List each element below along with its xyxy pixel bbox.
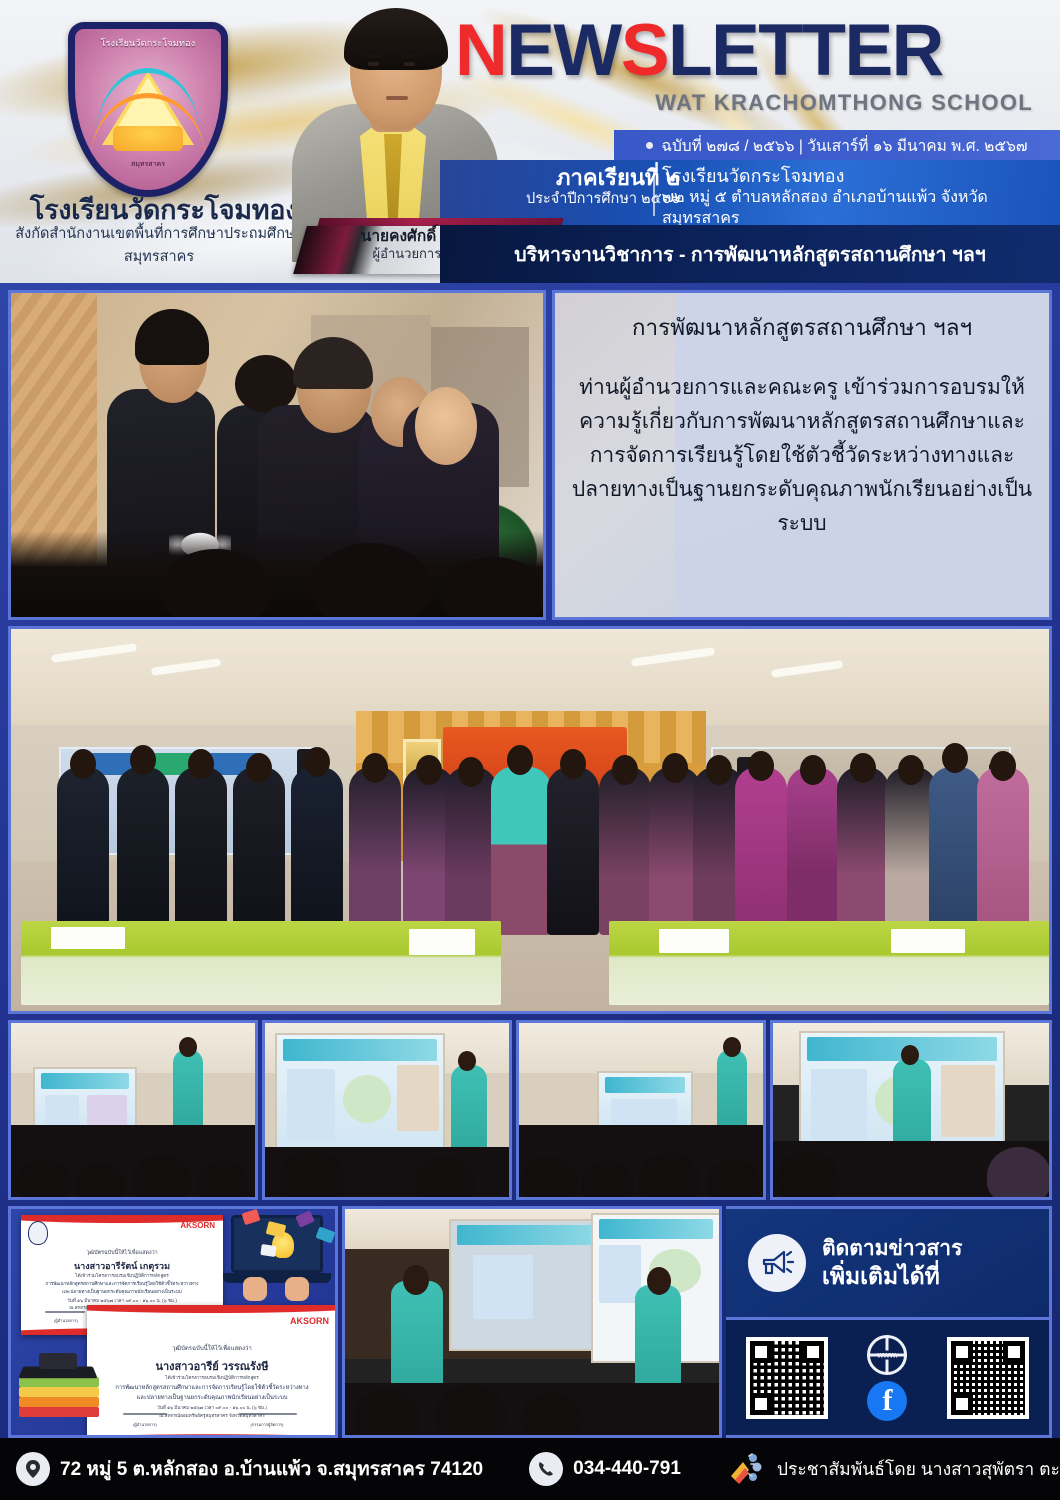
photo2-person-09-speaker [491,767,551,935]
crest-base-shape [113,126,183,152]
certificate-2-title: วุฒิบัตรฉบับนี้ให้ไว้เพื่อแสดงว่า [87,1345,337,1354]
row4-screen-left [449,1219,605,1351]
certificate-2: AKSORN วุฒิบัตรฉบับนี้ให้ไว้เพื่อแสดงว่า… [87,1305,337,1438]
term-address-bar: ภาคเรียนที่ ๒ ประจำปีการศึกษา ๒๕๖๖ โรงเร… [440,160,1060,225]
photo-row3-4 [770,1020,1052,1200]
row3-4-presenter-head [901,1045,919,1065]
social-icons-group: www. f [867,1335,907,1421]
photo2-head-13 [706,755,732,785]
row3-4-audience-head-2 [987,1147,1051,1200]
row3-1-audience-head-3 [133,1155,191,1200]
photo2-paper-3 [659,929,729,953]
photo2-person-06 [349,767,401,935]
row3-2-projection-screen [275,1033,445,1163]
phone-icon [529,1452,563,1486]
bullet-dot-icon [646,142,653,149]
photo2-person-01 [57,767,109,935]
photo2-person-10-director [547,767,599,935]
row3-1-audience-head-4 [197,1161,249,1200]
photo2-person-05 [291,767,343,935]
certificate-2-date: วันที่ ๑๖ มีนาคม ๒๕๖๗ เวลา ๐๙.๐๐ - ๑๖.๐๐… [87,1405,337,1412]
photo2-head-10 [560,749,586,779]
row4-presenter-right [635,1285,681,1393]
row3-3-audience-head-1 [521,1157,577,1200]
certificates-collage: AKSORN วุฒิบัตรฉบับนี้ให้ไว้เพื่อแสดงว่า… [8,1206,338,1438]
footer-pr-item: ประชาสัมพันธ์โดย นางสาวสุพัตรา ตะเพียนทอ… [727,1452,1060,1486]
footer-address-item: 72 หมู่ 5 ต.หลักสอง อ.บ้านแพ้ว จ.สมุทรสา… [16,1452,483,1486]
photo2-person-15 [787,767,839,935]
qr-facebook-pattern [951,1341,1025,1415]
row4-slide-left-header [457,1225,597,1245]
certificate-1-date: วันที่ ๑๖ มีนาคม ๒๕๖๗ เวลา ๐๙.๐๐ - ๑๖.๐๐… [21,1298,223,1305]
photo-microphone-scene [8,290,546,620]
qr-eye-tl [750,1341,772,1363]
certificate-2-brand-logo: AKSORN [290,1317,329,1326]
photo2-head-02 [130,745,156,775]
photo2-head-18 [942,743,968,773]
certificate-1-course-line1: การพัฒนาหลักสูตรสถานศึกษาและการจัดการเรี… [21,1281,223,1288]
laptop-hand-right [285,1277,309,1301]
page-footer: 72 หมู่ 5 ต.หลักสอง อ.บ้านแพ้ว จ.สมุทรสา… [0,1438,1060,1500]
location-pin-icon [16,1452,50,1486]
qr-code-bar: www. f [726,1320,1052,1438]
certificate-1-signature-line-left [45,1311,85,1313]
article-heading: การพัฒนาหลักสูตรสถานศึกษา ฯลฯ [555,309,1049,345]
megaphone-announce-icon [727,1452,767,1486]
portrait-brow-right [401,54,418,58]
photo-row3-3 [516,1020,766,1200]
row3-4-slide-text-right [941,1065,995,1137]
row3-4-slide-text-left [811,1069,867,1139]
row3-3-audience-head-4 [707,1159,761,1200]
term-block: ภาคเรียนที่ ๒ ประจำปีการศึกษา ๒๕๖๖ [480,165,680,208]
photo2-head-11 [612,755,638,785]
row3-3-presenter-head [723,1037,741,1057]
row3-1-slide-header [41,1073,129,1089]
certificate-2-signature-line-right [239,1413,297,1415]
certificate-1-brand-logo: AKSORN [180,1222,215,1230]
row3-2-audience-head-2 [415,1157,475,1200]
row4-presenter-right-head [647,1267,671,1295]
row3-2-slide-text-right [397,1065,439,1131]
row3-4-audience-head-1 [777,1151,839,1200]
photo2-head-08 [458,757,484,787]
photo-group-stage [8,626,1052,1014]
term-year: ประจำปีการศึกษา ๒๕๖๖ [480,191,680,208]
photo2-head-17 [898,755,924,785]
crest-bottom-text: สมุทรสาคร [75,159,221,170]
laptop-base [223,1273,331,1283]
qr-fb-eye-bl [951,1393,973,1415]
photo2-person-04 [233,767,285,935]
term-label: ภาคเรียนที่ ๒ [480,165,680,191]
school-crest-logo: โรงเรียนวัดกระโจมทอง สมุทรสาคร [68,22,228,197]
certificate-2-course-line2: และปลายทางเป็นฐานยกระดับคุณภาพนักเรียนอย… [87,1394,337,1403]
portrait-eye-left [368,62,379,66]
follow-us-text: ติดตามข่าวสาร เพิ่มเติมได้ที่ [822,1236,962,1291]
photo2-paper-1 [51,927,125,949]
row3-3-audience-head-2 [581,1161,633,1200]
article-body: ท่านผู้อำนวยการและคณะครู เข้าร่วมการอบรม… [569,371,1035,541]
crest-top-text: โรงเรียนวัดกระโจมทอง [75,36,221,50]
wordmark-letters-ew: EW [506,10,621,91]
photo1-audience-head-1 [161,549,271,620]
book-yellow [19,1387,99,1397]
topic-bar: บริหารงานวิชาการ - การพัฒนาหลักสูตรสถานศ… [440,225,1060,283]
page-header: โรงเรียนวัดกระโจมทอง สมุทรสาคร โรงเรียนว… [0,0,1060,283]
footer-address-text: 72 หมู่ 5 ต.หลักสอง อ.บ้านแพ้ว จ.สมุทรสา… [60,1454,483,1484]
address-line-1: โรงเรียนวัดกระโจมทอง [662,165,1060,188]
photo2-head-15 [800,755,826,785]
photo2-head-19 [990,751,1016,781]
graduation-cap-illustration [17,1341,101,1413]
photo2-head-01 [70,749,96,779]
certificate-1-subtitle: ได้เข้าร่วมโครงการอบรมเชิงปฏิบัติการหลัก… [21,1273,223,1280]
footer-phone-text: 034-440-791 [573,1458,681,1480]
portrait-eye-right [404,62,415,66]
photo2-person-14 [735,767,787,935]
row3-3-slide-block [611,1099,677,1127]
wordmark-letter-s: S [621,10,668,91]
photo2-head-06 [362,753,388,783]
school-affiliation: สังกัดสำนักงานเขตพื้นที่การศึกษาประถมศึก… [6,222,312,268]
facebook-icon[interactable]: f [867,1381,907,1421]
photo2-head-14 [748,751,774,781]
issue-bar: ฉบับที่ ๒๗๘ / ๒๕๖๖ | วันเสาร์ที่ ๑๖ มีนา… [614,130,1060,160]
book-orange [19,1397,99,1407]
certificate-2-signer-right: (กรรมการผู้จัดการ) [217,1421,317,1428]
row3-2-slide-text-left [287,1069,335,1141]
newsletter-wordmark: NEWSLETTER [455,10,1045,92]
photo2-head-09 [507,745,533,775]
photo2-person-19 [977,767,1029,935]
megaphone-icon [748,1234,806,1292]
qr-code-website[interactable] [746,1337,828,1419]
wordmark-letter-n: N [455,10,506,91]
row4-audience-head-3 [521,1393,583,1438]
portrait-mouth [386,96,408,100]
newsletter-page: โรงเรียนวัดกระโจมทอง สมุทรสาคร โรงเรียนว… [0,0,1060,1500]
book-green [19,1377,99,1387]
footer-phone-item: 034-440-791 [529,1452,681,1486]
photo2-head-16 [850,753,876,783]
issue-text: ฉบับที่ ๒๗๘ / ๒๕๖๖ | วันเสาร์ที่ ๑๖ มีนา… [661,133,1027,158]
photo2-head-12 [662,753,688,783]
row3-3-slide-header [605,1077,685,1093]
certificate-1-title: วุฒิบัตรฉบับนี้ให้ไว้เพื่อแสดงว่า [21,1249,223,1257]
row4-audience-head-2 [435,1385,507,1438]
certificate-1-seal-icon [28,1221,48,1245]
qr-fb-eye-tr [1003,1341,1025,1363]
photo2-paper-2 [409,929,475,955]
certificate-2-course-line1: การพัฒนาหลักสูตรสถานศึกษาและการจัดการเรี… [87,1384,337,1393]
row4-slide-right-header [599,1219,713,1239]
photo2-person-08 [445,767,497,935]
globe-www-icon[interactable]: www. [867,1335,907,1375]
photo2-person-18 [929,767,981,935]
certificate-2-subtitle: ได้เข้าร่วมโครงการอบรมเชิงปฏิบัติการหลัก… [87,1375,337,1382]
mortarboard-crown [39,1353,77,1369]
certificate-2-signature-line-left [123,1413,167,1415]
row3-1-audience-head-1 [17,1159,71,1200]
portrait-hair [344,8,448,70]
photo1-head-5 [415,387,477,465]
photo2-person-03 [175,767,227,935]
qr-fb-eye-tl [951,1341,973,1363]
row4-presenter-left [391,1281,443,1399]
address-line-2: ๗๒ หมู่ ๕ ตำบลหลักสอง อำเภอบ้านแพ้ว จังห… [662,188,1060,225]
term-divider [653,170,655,216]
photo-presenter-wide [342,1206,722,1438]
stacked-books-icon [19,1375,99,1413]
photo2-person-02 [117,767,169,935]
photo2-head-03 [188,749,214,779]
qr-eye-bl [750,1393,772,1415]
photo2-head-04 [246,753,272,783]
photo2-head-07 [416,755,442,785]
laptop-hand-left [243,1277,267,1301]
photo2-head-05 [304,747,330,777]
certificate-2-signer-left: (ผู้อำนวยการ) [109,1421,181,1428]
row3-2-slide-diagram [343,1075,391,1123]
address-block: โรงเรียนวัดกระโจมทอง ๗๒ หมู่ ๕ ตำบลหลักส… [662,165,1060,225]
photo1-audience-head-2 [311,543,431,620]
row3-1-presenter [173,1049,203,1135]
article-text-card: การพัฒนาหลักสูตรสถานศึกษา ฯลฯ ท่านผู้อำน… [552,290,1052,620]
qr-code-facebook[interactable] [947,1337,1029,1419]
certificate-1-course-line2: และปลายทางเป็นฐานยกระดับคุณภาพนักเรียนอย… [21,1289,223,1296]
confetti-book-5 [260,1244,276,1257]
photo-row3-1 [8,1020,258,1200]
photo1-audience-head-3 [441,557,545,620]
row3-2-slide-header [283,1039,437,1061]
photo2-person-11 [599,767,651,935]
row3-1-slide-block-2 [87,1095,127,1129]
row4-audience-head-1 [355,1389,419,1438]
wordmark-letters-letter: LETTER [668,10,943,91]
row3-2-audience-head-1 [279,1151,345,1200]
newsletter-subtitle: WAT KRACHOMTHONG SCHOOL [455,90,1045,116]
row4-presenter-left-head [403,1265,429,1295]
follow-us-panel: ติดตามข่าวสาร เพิ่มเติมได้ที่ [726,1206,1052,1320]
portrait-brow-left [365,54,382,58]
topic-bar-text: บริหารงานวิชาการ - การพัฒนาหลักสูตรสถานศ… [514,239,986,270]
qr-eye-tr [802,1341,824,1363]
row3-3-audience-head-3 [639,1153,699,1200]
row3-1-slide-block [45,1095,79,1129]
row3-3-presenter [717,1049,747,1135]
footer-pr-text: ประชาสัมพันธ์โดย นางสาวสุพัตรา ตะเพียนทอ… [777,1455,1060,1483]
certificate-2-name: นางสาวอารีย์ วรรณรังษี [87,1357,337,1375]
follow-line-1: ติดตามข่าวสาร [822,1236,962,1262]
qr-website-pattern [750,1341,824,1415]
row3-2-presenter-head [458,1051,476,1071]
www-label: www. [875,1350,900,1359]
row3-1-presenter-head [179,1037,197,1057]
book-red [19,1407,99,1417]
row3-1-audience-head-2 [75,1163,125,1200]
crest-shield-shape: โรงเรียนวัดกระโจมทอง สมุทรสาคร [68,22,228,197]
follow-line-2: เพิ่มเติมได้ที่ [822,1262,962,1291]
row4-slide-left-block [473,1255,533,1319]
photo2-paper-4 [891,929,965,953]
photo-row3-2 [262,1020,512,1200]
certificate-1-name: นางสาวอารีรัตน์ เกตุรวม [21,1259,223,1273]
photo2-person-16 [837,767,889,935]
